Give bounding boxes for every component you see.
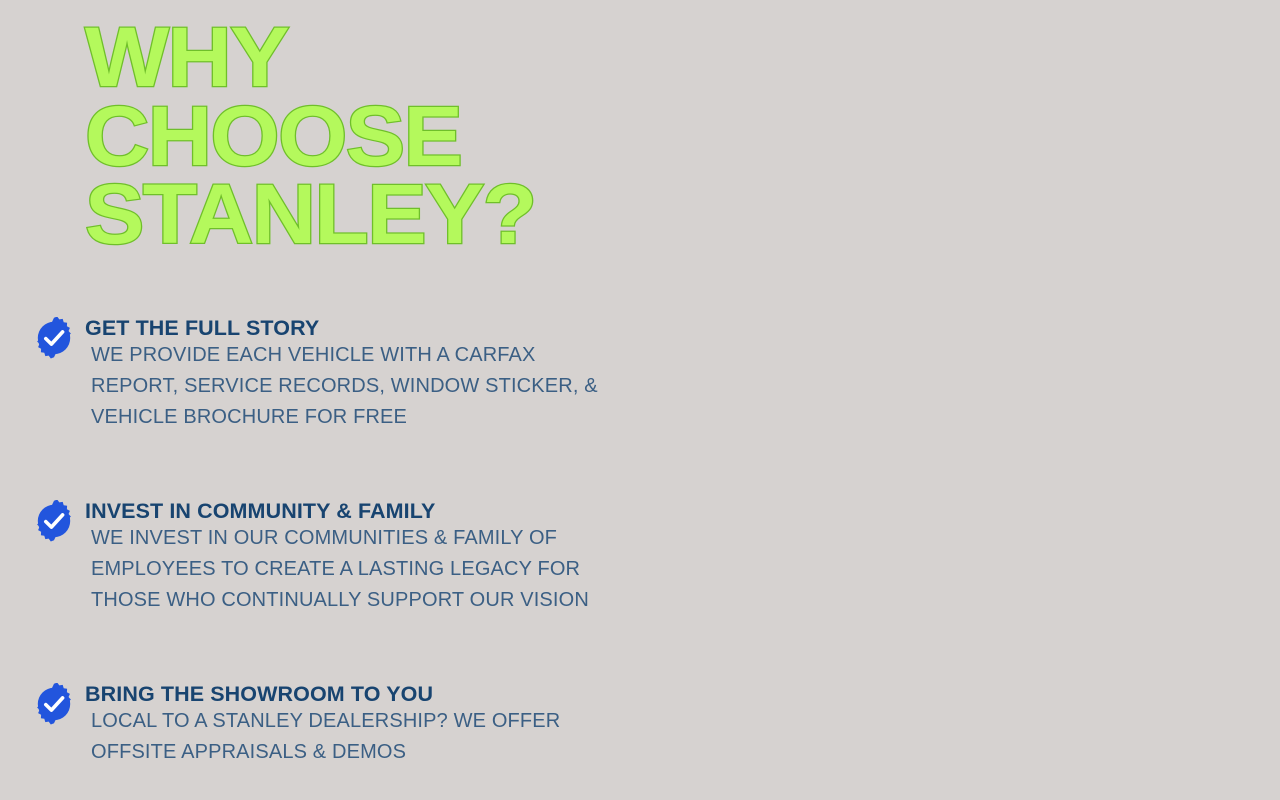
poster-canvas: WHY CHOOSE STANLEY? GET THE FULL STORY W… <box>0 0 1280 800</box>
left-column: WHY CHOOSE STANLEY? GET THE FULL STORY W… <box>0 0 640 800</box>
feature-text: BRING THE SHOWROOM TO YOU LOCAL TO A STA… <box>85 682 608 768</box>
feature-bring-the-showroom-to-you: BRING THE SHOWROOM TO YOU LOCAL TO A STA… <box>33 682 608 768</box>
page-title-line-2: CHOOSE <box>85 101 636 172</box>
page-title-line-3: STANLEY? <box>85 179 636 250</box>
feature-text: GET THE FULL STORY WE PROVIDE EACH VEHIC… <box>85 316 608 433</box>
feature-body: WE PROVIDE EACH VEHICLE WITH A CARFAX RE… <box>85 340 608 433</box>
check-badge-icon <box>33 500 75 542</box>
feature-invest-in-community-and-family: INVEST IN COMMUNITY & FAMILY WE INVEST I… <box>33 499 608 616</box>
feature-body: LOCAL TO A STANLEY DEALERSHIP? WE OFFER … <box>85 706 608 768</box>
feature-heading: BRING THE SHOWROOM TO YOU <box>85 682 608 706</box>
check-badge-icon <box>33 317 75 359</box>
feature-body: WE INVEST IN OUR COMMUNITIES & FAMILY OF… <box>85 523 608 616</box>
check-badge-icon <box>33 683 75 725</box>
feature-text: INVEST IN COMMUNITY & FAMILY WE INVEST I… <box>85 499 608 616</box>
feature-heading: INVEST IN COMMUNITY & FAMILY <box>85 499 608 523</box>
right-column: NO HIDDEN DEALER FEES NO ADDENDUMS, ADD … <box>640 0 1280 800</box>
feature-get-the-full-story: GET THE FULL STORY WE PROVIDE EACH VEHIC… <box>33 316 608 433</box>
page-title: WHY CHOOSE STANLEY? <box>85 22 605 258</box>
page-title-line-1: WHY <box>85 22 636 93</box>
feature-heading: GET THE FULL STORY <box>85 316 608 340</box>
